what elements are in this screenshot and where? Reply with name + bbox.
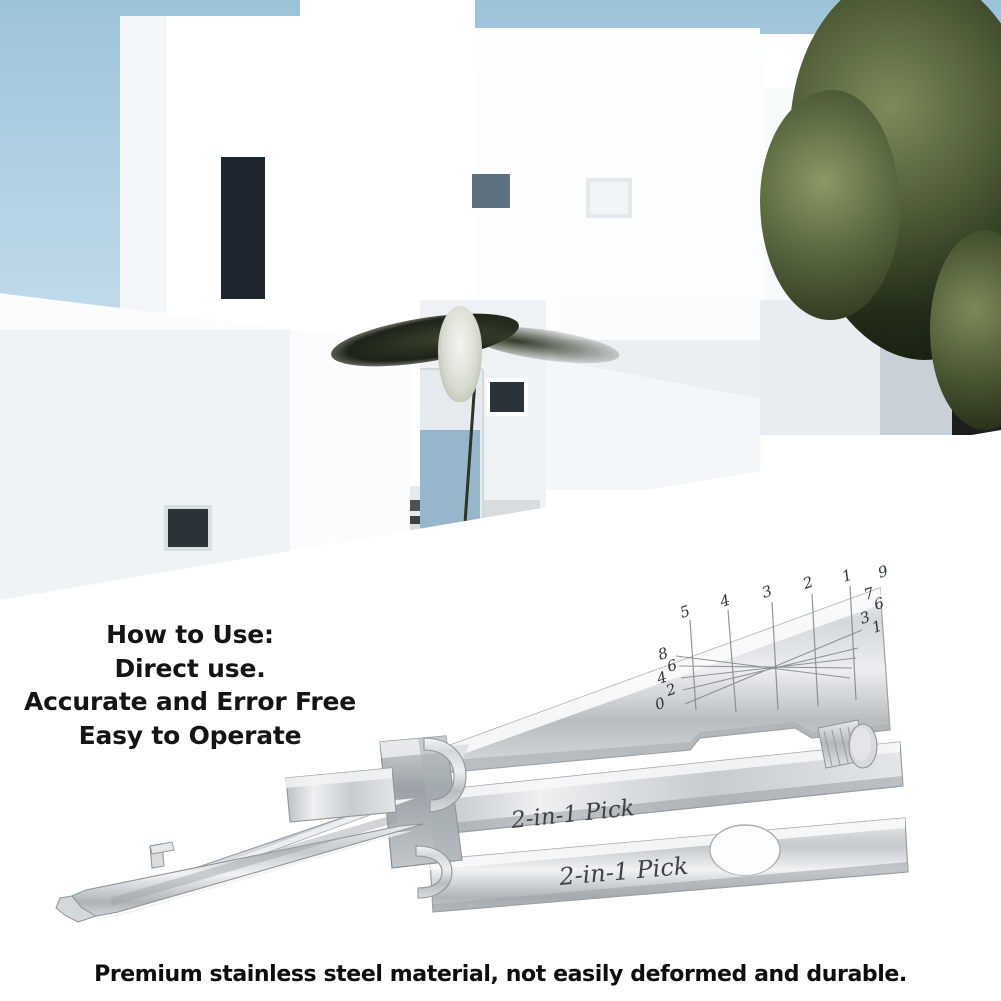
gauge-num-4: 4 bbox=[717, 591, 733, 611]
lock-pick-tool: 2-in-1 Pick bbox=[0, 560, 1001, 960]
window-tall bbox=[216, 152, 270, 304]
building-low-wall-top bbox=[560, 300, 760, 340]
gauge-num-9: 9 bbox=[876, 562, 891, 582]
tool-tang bbox=[286, 768, 396, 822]
window-small-3 bbox=[486, 378, 528, 416]
window-small-2 bbox=[586, 178, 632, 218]
window-small-1 bbox=[468, 170, 514, 212]
gauge-num-2: 2 bbox=[800, 573, 816, 593]
plant-flower bbox=[438, 306, 482, 402]
gauge-num-1: 1 bbox=[840, 566, 855, 586]
product-caption: Premium stainless steel material, not ea… bbox=[0, 962, 1001, 987]
hero-photo bbox=[0, 0, 1001, 605]
window-small-4 bbox=[164, 505, 212, 551]
gauge-num-3: 3 bbox=[760, 582, 775, 602]
tool-illustration: 2-in-1 Pick bbox=[0, 560, 1001, 960]
tool-thumbscrew bbox=[818, 720, 877, 768]
tool-lower-blade: 2-in-1 Pick bbox=[430, 818, 908, 912]
product-marketing-image: How to Use: Direct use. Accurate and Err… bbox=[0, 0, 1001, 1001]
tool-pick-blade bbox=[56, 814, 424, 922]
tree-secondary bbox=[760, 90, 900, 320]
gauge-num-5: 5 bbox=[678, 602, 693, 622]
